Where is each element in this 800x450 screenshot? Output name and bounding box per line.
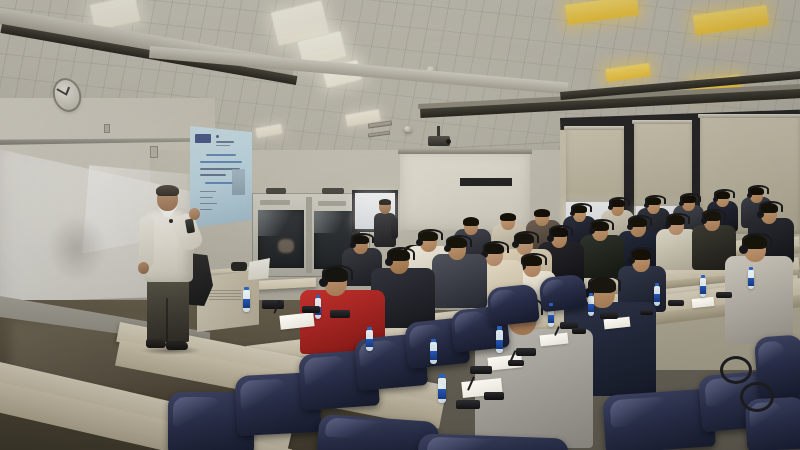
water-bottle-label <box>496 340 503 349</box>
interpretation-receiver <box>456 400 480 409</box>
attendee-hair <box>500 213 516 221</box>
chair[interactable] <box>538 274 587 313</box>
attendee-torso <box>725 256 793 344</box>
note-paper <box>692 297 715 308</box>
chair-highlight <box>325 418 393 442</box>
water-bottle-label <box>366 339 373 347</box>
headset-earcup <box>350 242 356 248</box>
chair-highlight <box>427 437 512 450</box>
water-bottle-label <box>243 299 250 308</box>
headset-earcup <box>385 258 393 266</box>
chair-highlight <box>454 311 487 334</box>
interpretation-receiver <box>262 300 284 309</box>
water-bottle-label <box>548 315 554 323</box>
headset-earcup <box>644 203 649 208</box>
smartphone <box>484 392 504 400</box>
chair-highlight <box>173 397 221 427</box>
chair-highlight <box>541 278 568 297</box>
chair-highlight <box>489 288 519 309</box>
headset-earcup <box>589 228 595 234</box>
water-bottle-label <box>700 286 706 294</box>
headset-band <box>742 233 772 247</box>
water-bottle-cap <box>749 267 753 270</box>
smartphone <box>302 306 320 313</box>
headset-band <box>322 265 353 280</box>
attendee-grey-blazer-r <box>722 236 796 346</box>
chair[interactable] <box>486 283 540 326</box>
headset-earcup <box>627 224 633 230</box>
chair-highlight <box>240 378 288 409</box>
water-bottle-cap <box>439 374 445 378</box>
chair-highlight <box>609 396 672 428</box>
headset-earcup <box>679 201 684 206</box>
headset-band <box>759 201 783 212</box>
headset-earcup <box>739 245 748 254</box>
chair-highlight <box>358 340 399 368</box>
headset-on-desk <box>720 356 752 384</box>
headset-earcup <box>444 245 451 252</box>
headset-on-desk <box>740 382 774 412</box>
chair-highlight <box>303 356 348 386</box>
interpretation-receiver <box>716 292 732 298</box>
water-bottle-label <box>654 294 660 302</box>
water-bottle-cap <box>367 327 372 330</box>
interpretation-receiver <box>330 310 350 318</box>
headset-earcup <box>701 218 707 224</box>
smartphone <box>572 328 586 334</box>
water-bottle-cap <box>655 283 659 286</box>
water-bottle-label <box>430 351 437 360</box>
headset-earcup <box>665 222 671 228</box>
headset-earcup <box>570 211 575 216</box>
smartphone <box>640 310 653 315</box>
headset-earcup <box>416 239 423 246</box>
water-bottle-cap <box>497 326 502 330</box>
water-bottle-label <box>438 389 446 399</box>
headset-earcup <box>713 197 718 202</box>
interpretation-receiver <box>470 366 492 374</box>
headset-earcup <box>319 278 328 287</box>
water-bottle-cap <box>431 339 436 342</box>
water-bottle-cap <box>549 303 553 306</box>
water-bottle-label <box>748 278 754 286</box>
headset-earcup <box>747 193 752 198</box>
water-bottle-cap <box>701 275 705 278</box>
attendee-hair <box>534 209 550 217</box>
headset-band <box>588 275 621 291</box>
headset-earcup <box>757 211 764 218</box>
interpretation-receiver <box>516 348 536 356</box>
interpretation-receiver <box>600 312 618 319</box>
water-bottle-label <box>588 304 594 312</box>
lecture-room-photo <box>0 0 800 450</box>
water-bottle-cap <box>589 293 593 296</box>
headset-earcup <box>608 205 613 210</box>
water-bottle-cap <box>244 287 249 290</box>
interpretation-receiver <box>668 300 684 306</box>
water-bottle-cap <box>316 295 320 298</box>
chair-highlight <box>757 340 786 371</box>
attendee-hair <box>463 217 479 226</box>
headset-earcup <box>628 257 635 264</box>
chair-highlight <box>408 323 445 349</box>
